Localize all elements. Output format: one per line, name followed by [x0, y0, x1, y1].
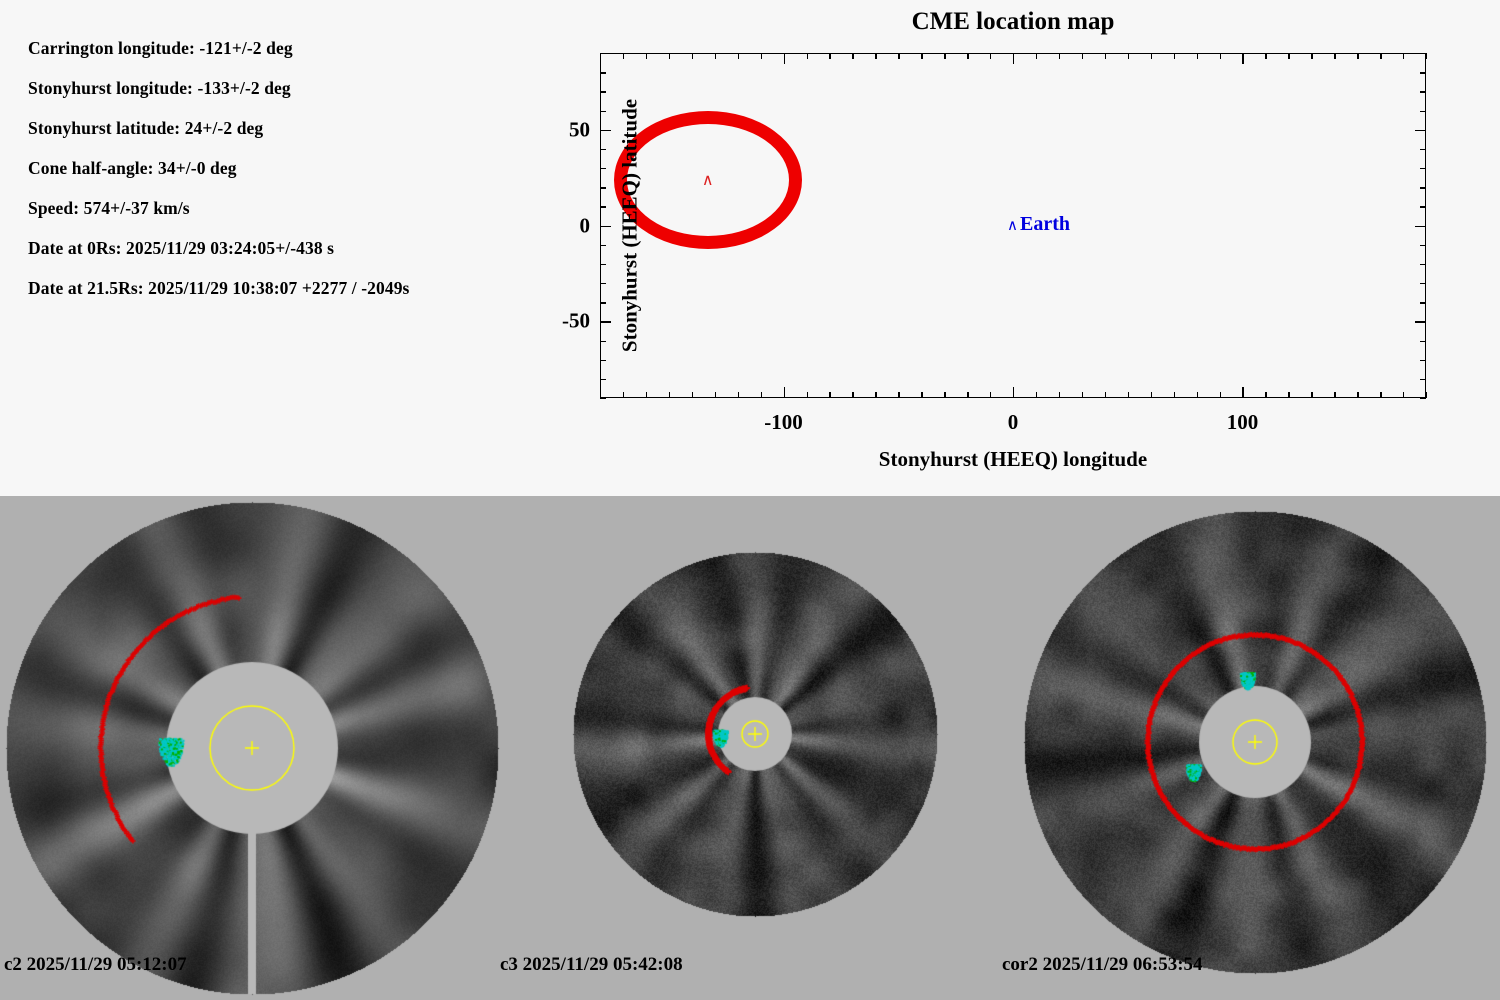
- earth-marker-icon: ∧: [1007, 219, 1018, 234]
- y-tick-label: 50: [538, 117, 590, 142]
- x-tick: [1105, 392, 1106, 398]
- y-tick: [600, 149, 606, 150]
- y-tick-right: [1415, 130, 1426, 131]
- x-tick: [784, 387, 785, 398]
- caption-c3: c3 2025/11/29 05:42:08: [500, 954, 683, 976]
- x-tick-top: [807, 53, 808, 59]
- param-speed: Speed: 574+/-37 km/s: [28, 188, 568, 228]
- y-tick-right: [1420, 206, 1426, 207]
- x-tick: [1380, 392, 1381, 398]
- x-tick: [1174, 392, 1175, 398]
- x-tick: [852, 392, 853, 398]
- x-tick-top: [761, 53, 762, 59]
- x-tick-top: [875, 53, 876, 59]
- y-tick-right: [1420, 111, 1426, 112]
- x-tick: [692, 392, 693, 398]
- y-tick: [600, 187, 606, 188]
- x-tick-top: [738, 53, 739, 59]
- y-axis-title: Stonyhurst (HEEQ) latitude: [618, 0, 643, 486]
- coronagraph-image-c2: [2, 498, 502, 998]
- x-tick-top: [1082, 53, 1083, 59]
- x-tick: [1311, 392, 1312, 398]
- x-tick-top: [898, 53, 899, 59]
- caption-c2: c2 2025/11/29 05:12:07: [4, 954, 187, 976]
- y-tick: [600, 130, 611, 131]
- coronagraph-image-c3: [555, 534, 955, 934]
- y-tick: [600, 360, 606, 361]
- x-tick: [1242, 387, 1243, 398]
- x-tick-top: [1128, 53, 1129, 59]
- x-tick-top: [1151, 53, 1152, 59]
- y-tick-right: [1420, 149, 1426, 150]
- coronagraph-canvas: [1015, 502, 1495, 982]
- x-tick-top: [1197, 53, 1198, 59]
- y-tick-right: [1415, 321, 1426, 322]
- coronagraph-canvas: [555, 534, 955, 934]
- param-date-21-5rs: Date at 21.5Rs: 2025/11/29 10:38:07 +227…: [28, 268, 568, 308]
- y-tick-right: [1415, 226, 1426, 227]
- y-tick: [600, 168, 606, 169]
- x-tick: [1059, 392, 1060, 398]
- x-tick: [1265, 392, 1266, 398]
- x-tick: [967, 392, 968, 398]
- x-tick: [1197, 392, 1198, 398]
- y-tick-right: [1420, 91, 1426, 92]
- x-tick-top: [967, 53, 968, 59]
- x-tick-top: [669, 53, 670, 59]
- y-tick: [600, 53, 606, 54]
- x-tick: [738, 392, 739, 398]
- y-tick: [600, 283, 606, 284]
- x-tick: [898, 392, 899, 398]
- y-tick: [600, 111, 606, 112]
- x-tick: [1357, 392, 1358, 398]
- x-tick-top: [1105, 53, 1106, 59]
- x-tick-top: [1426, 53, 1427, 59]
- y-tick-right: [1420, 379, 1426, 380]
- x-tick-top: [1242, 53, 1243, 64]
- y-tick-right: [1420, 187, 1426, 188]
- y-tick: [600, 245, 606, 246]
- caption-cor2: cor2 2025/11/29 06:53:54: [1002, 954, 1203, 976]
- x-tick: [829, 392, 830, 398]
- y-tick: [600, 398, 606, 399]
- x-tick-label: 0: [1008, 410, 1019, 435]
- y-tick-right: [1420, 168, 1426, 169]
- x-tick: [921, 392, 922, 398]
- coronagraph-panel: c2 2025/11/29 05:12:07 c3 2025/11/29 05:…: [0, 496, 1500, 1000]
- x-tick: [807, 392, 808, 398]
- coronagraph-canvas: [2, 498, 502, 998]
- coronagraph-image-cor2: [1015, 502, 1495, 982]
- x-tick-top: [1265, 53, 1266, 59]
- x-tick-top: [1357, 53, 1358, 59]
- x-tick-top: [1220, 53, 1221, 59]
- param-stonyhurst-longitude: Stonyhurst longitude: -133+/-2 deg: [28, 68, 568, 108]
- x-tick-top: [829, 53, 830, 59]
- x-tick: [1288, 392, 1289, 398]
- x-tick-label: 100: [1227, 410, 1259, 435]
- x-tick-top: [1334, 53, 1335, 59]
- x-tick-top: [944, 53, 945, 59]
- param-stonyhurst-latitude: Stonyhurst latitude: 24+/-2 deg: [28, 108, 568, 148]
- y-tick-right: [1420, 302, 1426, 303]
- y-tick-right: [1420, 245, 1426, 246]
- x-tick: [990, 392, 991, 398]
- x-tick-top: [1403, 53, 1404, 59]
- y-tick: [600, 379, 606, 380]
- x-tick: [1036, 392, 1037, 398]
- x-tick: [715, 392, 716, 398]
- x-tick: [1013, 387, 1014, 398]
- x-tick: [1151, 392, 1152, 398]
- param-date-0rs: Date at 0Rs: 2025/11/29 03:24:05+/-438 s: [28, 228, 568, 268]
- y-tick: [600, 72, 606, 73]
- param-cone-half-angle: Cone half-angle: 34+/-0 deg: [28, 148, 568, 188]
- earth-label: Earth: [1020, 214, 1070, 234]
- y-tick: [600, 91, 606, 92]
- x-tick-top: [1013, 53, 1014, 64]
- y-tick: [600, 264, 606, 265]
- cme-center-marker-icon: ∧: [702, 173, 714, 189]
- x-tick-label: -100: [764, 410, 803, 435]
- x-tick: [1220, 392, 1221, 398]
- x-tick-top: [921, 53, 922, 59]
- x-axis-title: Stonyhurst (HEEQ) longitude: [600, 447, 1426, 472]
- x-tick: [1082, 392, 1083, 398]
- y-tick-right: [1420, 283, 1426, 284]
- top-panel: Carrington longitude: -121+/-2 deg Stony…: [0, 0, 1500, 496]
- x-tick-top: [692, 53, 693, 59]
- y-tick-label: -50: [538, 309, 590, 334]
- x-tick: [944, 392, 945, 398]
- y-tick-right: [1420, 341, 1426, 342]
- y-tick-right: [1420, 398, 1426, 399]
- x-tick-top: [715, 53, 716, 59]
- x-tick-top: [784, 53, 785, 64]
- y-tick: [600, 302, 606, 303]
- x-tick: [1128, 392, 1129, 398]
- x-tick: [646, 392, 647, 398]
- y-tick: [600, 341, 606, 342]
- x-tick: [1334, 392, 1335, 398]
- x-tick: [761, 392, 762, 398]
- x-tick-top: [1288, 53, 1289, 59]
- cme-parameter-list: Carrington longitude: -121+/-2 deg Stony…: [28, 28, 568, 308]
- x-tick: [1403, 392, 1404, 398]
- y-tick: [600, 321, 611, 322]
- x-tick-top: [1380, 53, 1381, 59]
- x-tick-top: [852, 53, 853, 59]
- x-tick-top: [1174, 53, 1175, 59]
- y-tick-label: 0: [538, 213, 590, 238]
- x-tick-top: [1311, 53, 1312, 59]
- x-tick-top: [646, 53, 647, 59]
- x-tick-top: [1036, 53, 1037, 59]
- param-carrington-longitude: Carrington longitude: -121+/-2 deg: [28, 28, 568, 68]
- chart-title: CME location map: [600, 8, 1426, 36]
- y-tick-right: [1420, 264, 1426, 265]
- x-tick: [669, 392, 670, 398]
- x-tick: [1426, 392, 1427, 398]
- x-tick: [875, 392, 876, 398]
- y-tick: [600, 226, 611, 227]
- y-tick-right: [1420, 360, 1426, 361]
- cme-location-chart: ∧∧Earth Stonyhurst (HEEQ) latitude 500-5…: [600, 53, 1426, 398]
- y-tick-right: [1420, 53, 1426, 54]
- x-tick-top: [1059, 53, 1060, 59]
- y-tick: [600, 206, 606, 207]
- x-tick-top: [990, 53, 991, 59]
- y-tick-right: [1420, 72, 1426, 73]
